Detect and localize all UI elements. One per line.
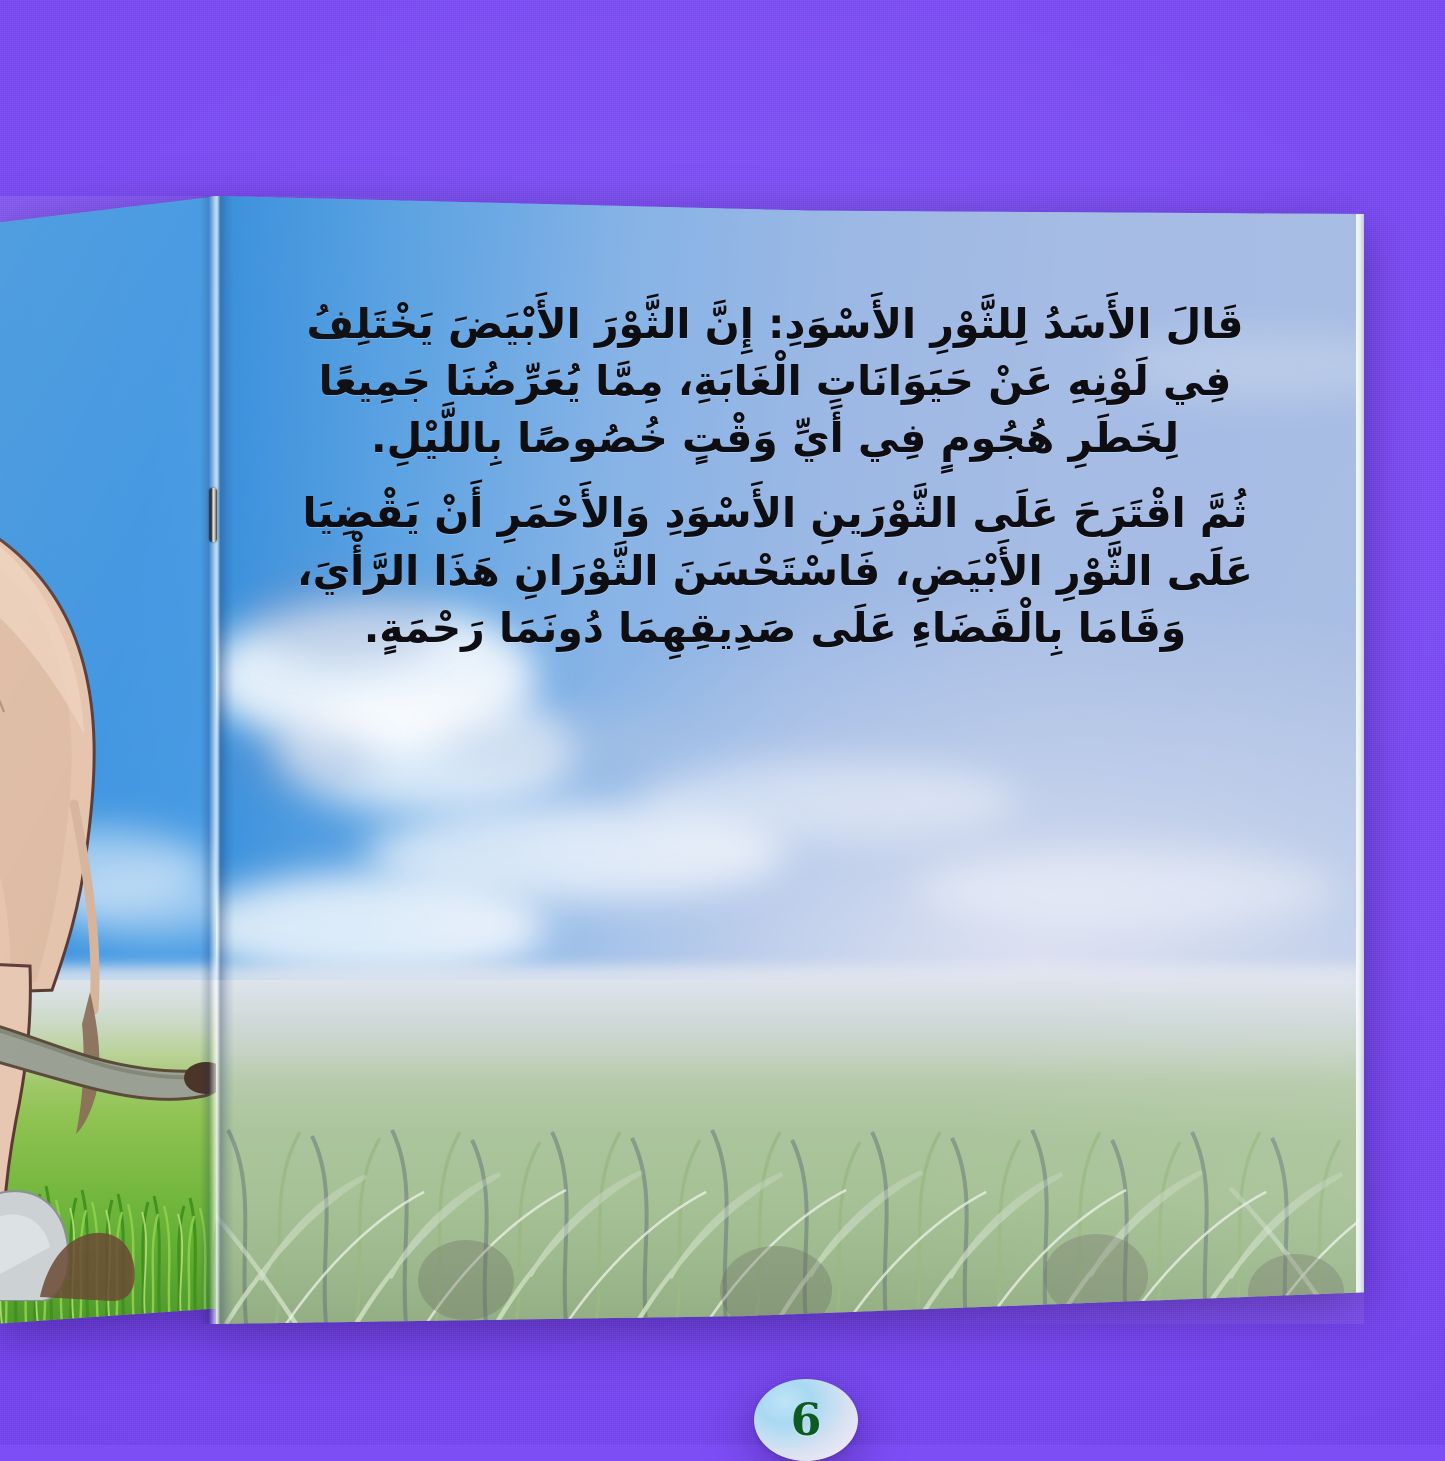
right-page-grass-field bbox=[216, 980, 1364, 1324]
grass-blades bbox=[216, 980, 1364, 1324]
cloud-icon bbox=[636, 760, 1016, 840]
cloud-icon bbox=[916, 850, 1336, 928]
book-left-page bbox=[0, 196, 220, 1324]
story-line: ثُمَّ اقْتَرَحَ عَلَى الثَّوْرَينِ الأَس… bbox=[246, 487, 1304, 540]
rock bbox=[0, 1101, 164, 1301]
staple-icon bbox=[209, 488, 217, 542]
story-line: قَالَ الأَسَدُ لِلثَّوْرِ الأَسْوَدِ: إِ… bbox=[246, 298, 1304, 351]
story-line: لِخَطَرِ هُجُومٍ فِي أَيِّ وَقْتٍ خُصُوص… bbox=[246, 412, 1304, 465]
page-edge-highlight bbox=[1356, 206, 1364, 1310]
story-line: فِي لَوْنِهِ عَنْ حَيَوَانَاتِ الْغَابَة… bbox=[246, 355, 1304, 408]
open-book: قَالَ الأَسَدُ لِلثَّوْرِ الأَسْوَدِ: إِ… bbox=[0, 196, 1364, 1324]
cloud-icon bbox=[436, 715, 696, 775]
book-right-page: قَالَ الأَسَدُ لِلثَّوْرِ الأَسْوَدِ: إِ… bbox=[216, 196, 1364, 1324]
story-line: وَقَامَا بِالْقَضَاءِ عَلَى صَدِيقِهِمَا… bbox=[246, 602, 1304, 655]
cloud-icon bbox=[226, 726, 376, 796]
story-line: عَلَى الثَّوْرِ الأَبْيَضِ، فَاسْتَحْسَن… bbox=[246, 545, 1304, 598]
page-number-badge: 6 bbox=[754, 1379, 858, 1461]
story-text-block: قَالَ الأَسَدُ لِلثَّوْرِ الأَسْوَدِ: إِ… bbox=[246, 298, 1304, 660]
page-number-value: 6 bbox=[791, 1395, 822, 1446]
